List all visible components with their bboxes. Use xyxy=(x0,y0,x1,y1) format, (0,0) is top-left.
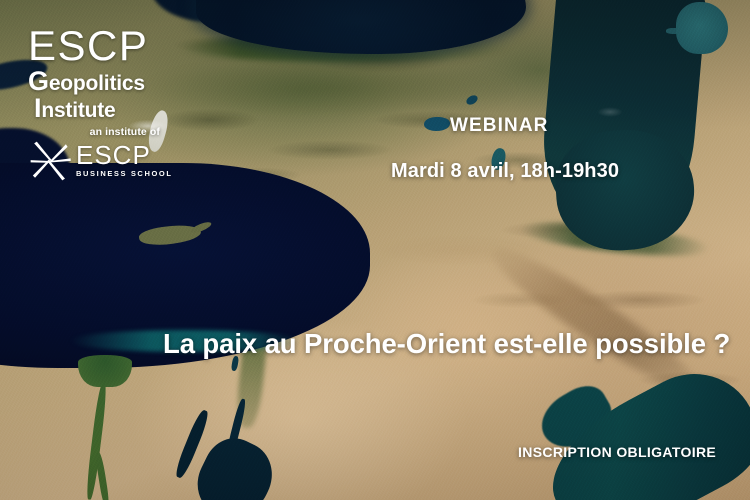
institute-name: Geopolitics Institute xyxy=(28,68,208,123)
event-type-label: WEBINAR xyxy=(450,115,548,137)
event-headline: La paix au Proche-Orient est-elle possib… xyxy=(163,328,730,360)
parent-brand-logo[interactable]: ESCP BUSINESS SCHOOL xyxy=(28,139,208,183)
affiliation-label: an institute of xyxy=(28,126,168,138)
escp-wordmark: ESCP xyxy=(28,26,208,66)
geopolitics-cap-letter: G xyxy=(28,66,49,96)
registration-required-note: INSCRIPTION OBLIGATOIRE xyxy=(518,444,716,460)
institute-name-line-1: Geopolitics xyxy=(28,68,208,96)
escp-star-icon xyxy=(28,139,72,183)
business-school-tagline: BUSINESS SCHOOL xyxy=(76,169,173,178)
event-datetime: Mardi 8 avril, 18h-19h30 xyxy=(391,160,619,183)
parent-brand-text: ESCP BUSINESS SCHOOL xyxy=(76,142,173,180)
escp-parent-wordmark: ESCP xyxy=(76,142,173,168)
webinar-poster: ESCP Geopolitics Institute an institute … xyxy=(0,0,750,500)
institute-name-line-2: Institute xyxy=(28,95,208,123)
escp-geopolitics-institute-logo[interactable]: ESCP Geopolitics Institute an institute … xyxy=(28,26,208,183)
geopolitics-rest: eopolitics xyxy=(49,72,145,95)
institute-rest: nstitute xyxy=(41,99,115,122)
